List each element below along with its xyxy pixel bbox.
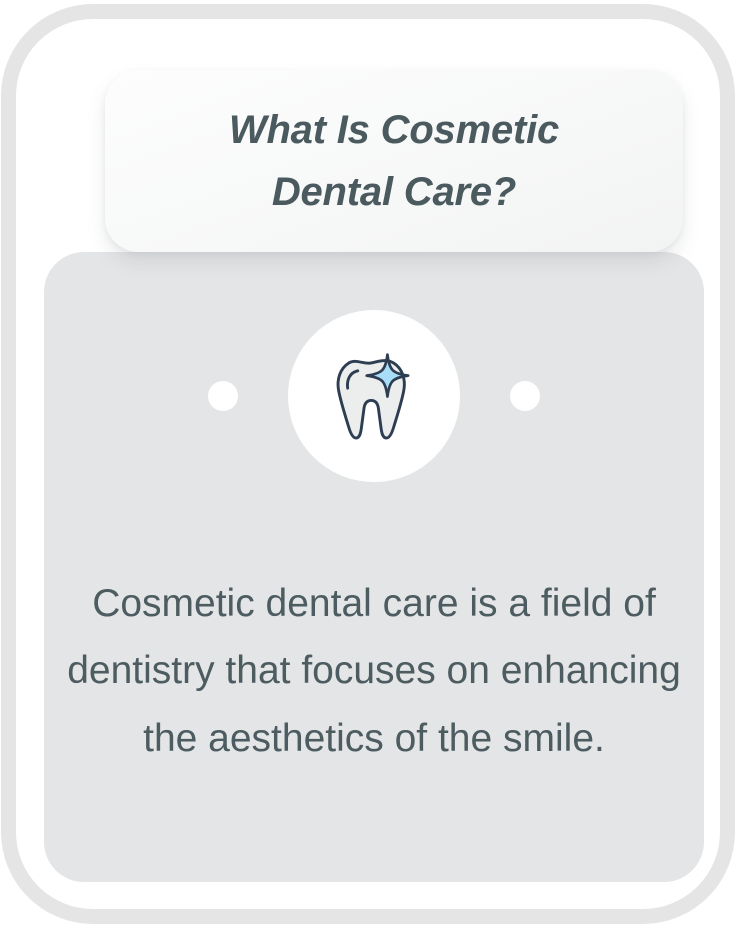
page-title: What Is Cosmetic Dental Care? [199,99,589,223]
card-body-text: Cosmetic dental care is a field of denti… [64,570,684,772]
title-card: What Is Cosmetic Dental Care? [105,70,683,252]
icon-row [44,310,704,482]
icon-circle-badge [288,310,460,482]
tooth-sparkle-icon [318,340,430,452]
infographic-card-stage: What Is Cosmetic Dental Care? Cosmetic d… [0,0,749,930]
decor-dot-right-icon [510,381,540,411]
decor-dot-left-icon [208,381,238,411]
